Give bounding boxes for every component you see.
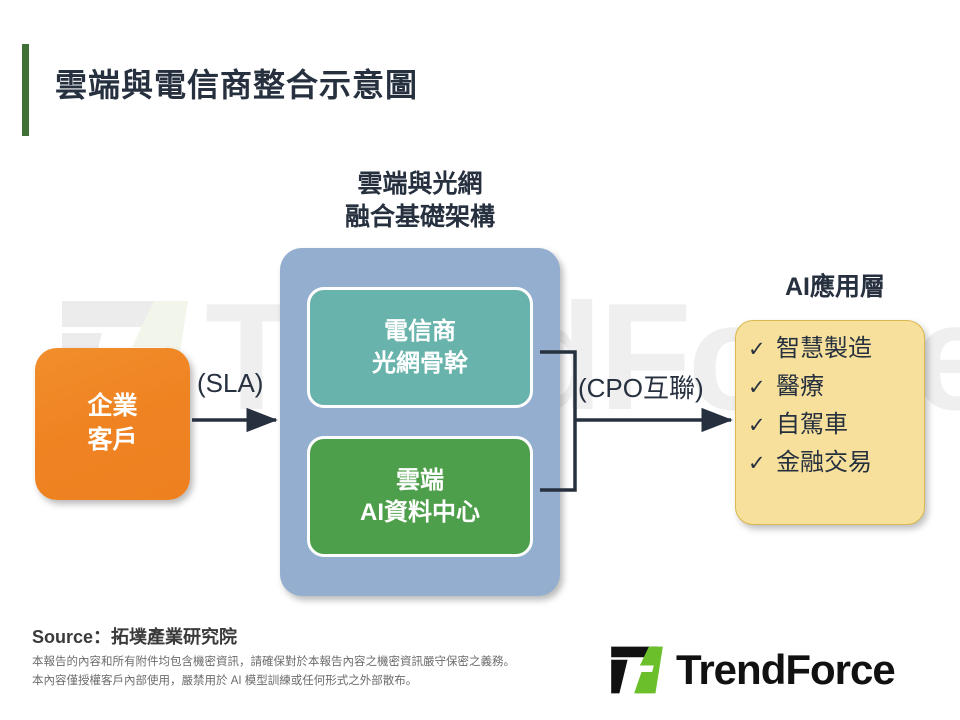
- disclaimer-line2: 本內容僅授權客戶內部使用，嚴禁用於 AI 模型訓練或任何形式之外部散布。: [32, 672, 515, 691]
- infrastructure-header-line2: 融合基礎架構: [280, 201, 560, 234]
- title-accent-bar: [22, 44, 29, 136]
- sla-label: (SLA): [197, 368, 263, 399]
- list-item: ✓ 醫療: [748, 375, 924, 399]
- page-title: 雲端與電信商整合示意圖: [55, 60, 418, 106]
- telecom-backbone-line1: 電信商: [384, 316, 456, 348]
- telecom-backbone-box[interactable]: 電信商 光網骨幹: [307, 287, 533, 408]
- list-item: ✓ 金融交易: [748, 451, 924, 475]
- ai-item-label: 自駕車: [776, 413, 848, 437]
- infrastructure-header: 雲端與光網 融合基礎架構: [280, 168, 560, 234]
- trendforce-logo-mark-icon: [608, 645, 666, 695]
- disclaimer: 本報告的內容和所有附件均包含機密資訊，請確保對於本報告內容之機密資訊嚴守保密之義…: [32, 653, 515, 691]
- ai-item-label: 醫療: [776, 375, 824, 399]
- trendforce-logo: TrendForce: [608, 645, 895, 695]
- trendforce-logo-text: TrendForce: [676, 649, 895, 691]
- check-icon: ✓: [748, 339, 776, 360]
- list-item: ✓ 智慧製造: [748, 337, 924, 361]
- enterprise-customer-box[interactable]: 企業 客戶: [35, 348, 190, 500]
- slide-canvas: TrendForce 雲端與電信商整合示意圖 雲端與光網 融合基礎架構 電信商 …: [0, 0, 960, 720]
- enterprise-customer-line1: 企業: [87, 390, 137, 424]
- cloud-ai-datacenter-line1: 雲端: [396, 465, 444, 497]
- list-item: ✓ 自駕車: [748, 413, 924, 437]
- enterprise-customer-line2: 客戶: [87, 424, 137, 458]
- check-icon: ✓: [748, 377, 776, 398]
- disclaimer-line1: 本報告的內容和所有附件均包含機密資訊，請確保對於本報告內容之機密資訊嚴守保密之義…: [32, 653, 515, 672]
- infrastructure-container: 電信商 光網骨幹 雲端 AI資料中心: [280, 248, 560, 596]
- ai-application-layer-header: AI應用層: [735, 267, 935, 303]
- check-icon: ✓: [748, 453, 776, 474]
- ai-item-label: 金融交易: [776, 451, 872, 475]
- cloud-ai-datacenter-box[interactable]: 雲端 AI資料中心: [307, 436, 533, 557]
- cpo-label: (CPO互聯): [578, 368, 704, 405]
- telecom-backbone-line2: 光網骨幹: [372, 348, 468, 380]
- ai-application-layer-box[interactable]: ✓ 智慧製造 ✓ 醫療 ✓ 自駕車 ✓ 金融交易: [735, 320, 925, 525]
- check-icon: ✓: [748, 415, 776, 436]
- ai-item-label: 智慧製造: [776, 337, 872, 361]
- cloud-ai-datacenter-line2: AI資料中心: [360, 497, 480, 529]
- source-line: Source：拓墣產業研究院: [32, 623, 237, 649]
- infrastructure-header-line1: 雲端與光網: [280, 168, 560, 201]
